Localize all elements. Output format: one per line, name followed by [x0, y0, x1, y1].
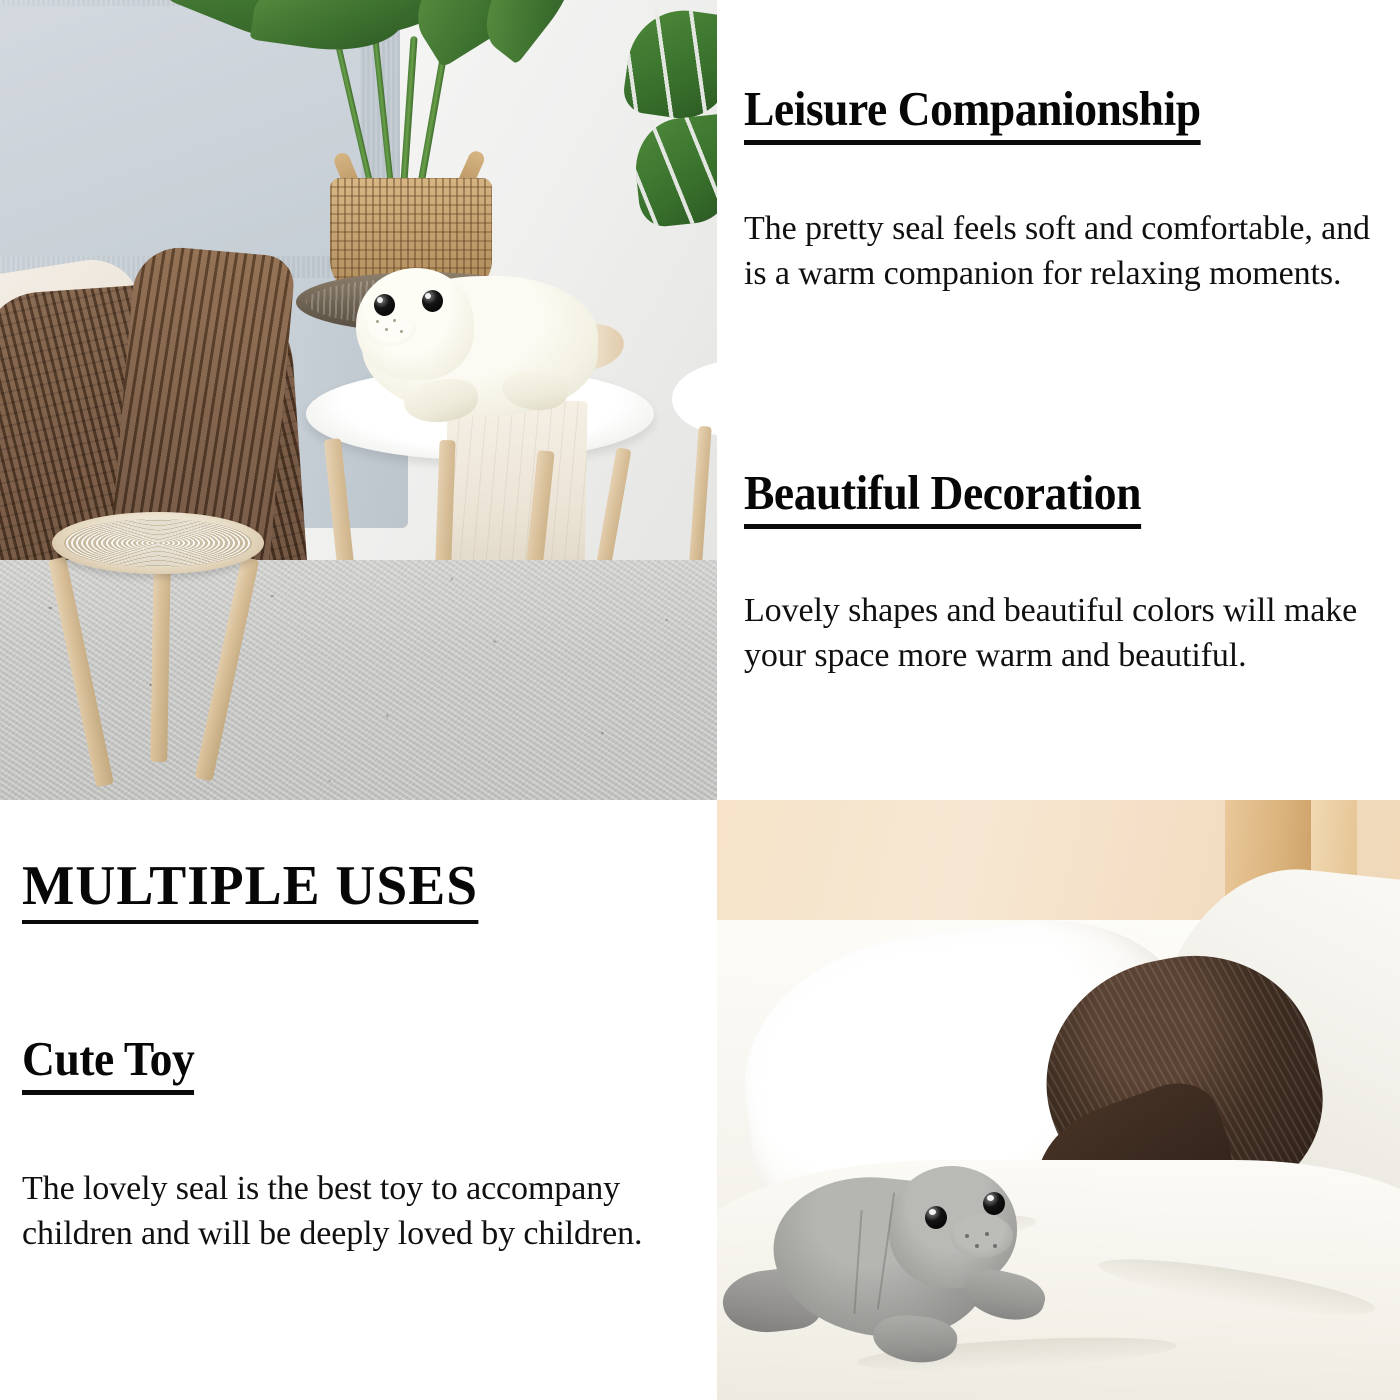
heading-beautiful-decoration: Beautiful Decoration	[744, 468, 1141, 529]
child-sleeping-photo	[717, 800, 1400, 1400]
seal-whisker-dot	[965, 1234, 969, 1238]
living-room-scene	[0, 0, 717, 800]
white-seal-plush	[352, 258, 622, 433]
monstera-leaf	[631, 113, 717, 228]
seal-whisker-dot	[975, 1244, 979, 1248]
seal-eye-left	[925, 1206, 947, 1229]
seal-whisker-dot	[985, 1232, 989, 1236]
seal-front-flipper-right	[959, 1263, 1050, 1327]
seal-eye-right	[983, 1192, 1005, 1215]
seal-eye-right	[422, 290, 443, 312]
pine-tripod-stool-top	[52, 512, 264, 574]
infographic-page: Leisure Companionship The pretty seal fe…	[0, 0, 1400, 1400]
monstera-leaf	[621, 3, 717, 124]
feature-text-column: Leisure Companionship The pretty seal fe…	[717, 0, 1400, 800]
heading-multiple-uses: MULTIPLE USES	[22, 858, 478, 924]
stool-leg	[150, 556, 171, 762]
seal-snout	[364, 310, 416, 346]
seal-whisker-dot	[400, 330, 403, 333]
bedroom-scene	[717, 800, 1400, 1400]
seal-whisker-dot	[393, 319, 396, 322]
wooden-headboard-post	[1311, 800, 1357, 878]
seal-snout	[951, 1214, 1013, 1258]
seal-whisker-dot	[376, 320, 379, 323]
seal-eye-left	[374, 294, 395, 316]
seal-whisker-dot	[385, 328, 388, 331]
living-room-photo	[0, 0, 717, 800]
grey-seal-plush	[737, 1152, 1057, 1394]
body-cute-toy: The lovely seal is the best toy to accom…	[22, 1166, 662, 1256]
heading-leisure-companionship: Leisure Companionship	[744, 84, 1201, 145]
heading-cute-toy: Cute Toy	[22, 1034, 194, 1095]
body-leisure-companionship: The pretty seal feels soft and comfortab…	[744, 206, 1384, 296]
body-beautiful-decoration: Lovely shapes and beautiful colors will …	[744, 588, 1384, 678]
seal-whisker-dot	[993, 1244, 997, 1248]
